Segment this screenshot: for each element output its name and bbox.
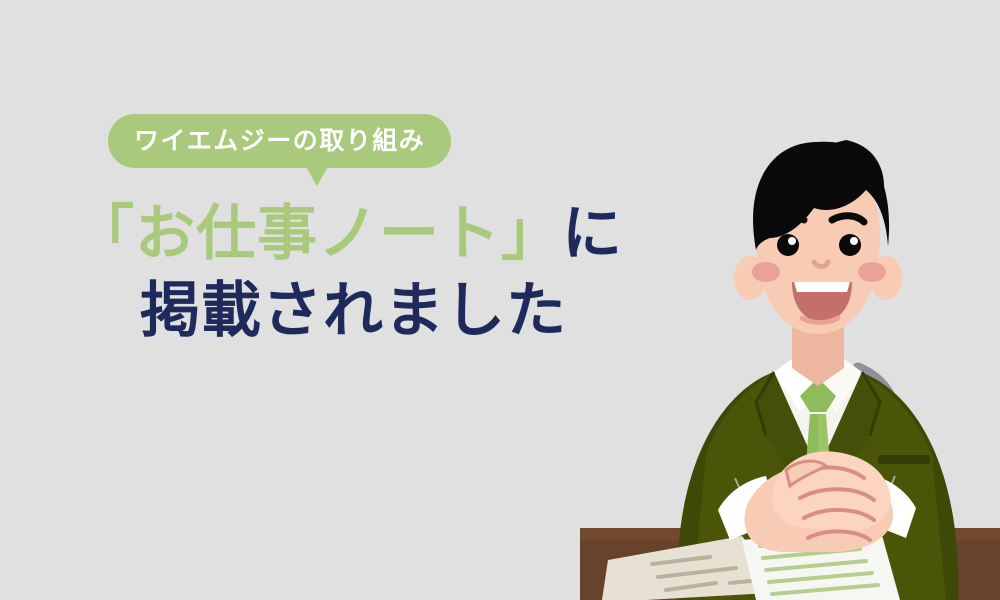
text-block: ワイエムジーの取り組み 「お仕事ノート」に 掲載されました	[0, 0, 620, 600]
headline-accent-text: 「お仕事ノート」	[74, 200, 562, 267]
illustration-businessman-at-desk	[560, 0, 1000, 600]
eyebrow-badge-tail-icon	[306, 167, 328, 186]
headline-line-2: 掲載されました	[74, 273, 634, 350]
headline: 「お仕事ノート」に 掲載されました	[74, 196, 634, 350]
promo-banner: ワイエムジーの取り組み 「お仕事ノート」に 掲載されました	[0, 0, 1000, 600]
headline-line-1: 「お仕事ノート」に	[74, 196, 634, 273]
eyebrow-badge-label: ワイエムジーの取り組み	[134, 129, 425, 154]
head	[734, 140, 902, 334]
eyebrow-badge: ワイエムジーの取り組み	[108, 114, 451, 168]
